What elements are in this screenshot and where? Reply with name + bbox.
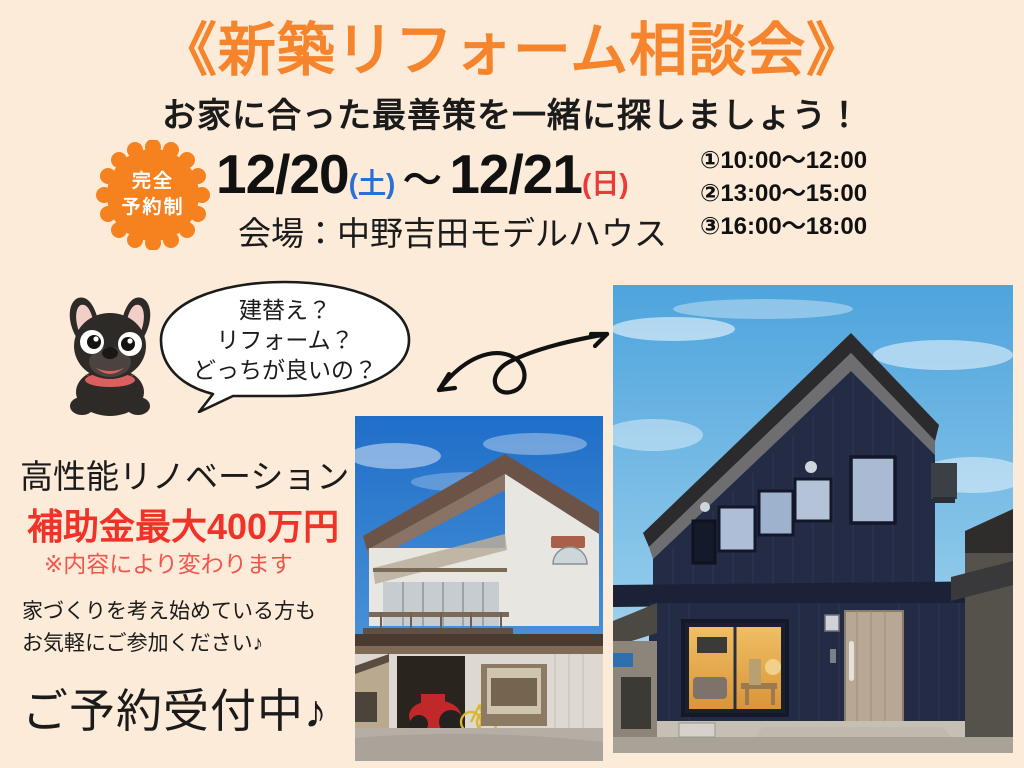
speech-bubble-text: 建替え？ リフォーム？ どっちが良いの？: [155, 296, 415, 386]
subsidy-note: ※内容により変わります: [44, 545, 293, 579]
new-house-illustration: [613, 285, 1013, 753]
venue-label: 会場：中野吉田モデルハウス: [238, 207, 667, 255]
page-subtitle: お家に合った最善策を一緒に探しましょう！: [0, 98, 1024, 135]
time-slot-1: ①10:00〜12:00: [700, 144, 867, 177]
french-bulldog-icon: [48, 288, 172, 420]
old-house-illustration: [355, 416, 603, 761]
cta-text: ご予約受付中♪: [22, 675, 328, 741]
time-slot-2: ②13:00〜15:00: [700, 177, 867, 210]
date-start: 12/20: [216, 143, 349, 205]
badge-text: 完全 予約制: [96, 140, 210, 250]
invitation-line-2: お気軽にご参加ください♪: [22, 628, 316, 660]
renovation-heading: 高性能リノベーション: [20, 450, 349, 498]
reservation-required-badge: 完全 予約制: [96, 140, 210, 250]
invitation-line-1: 家づくりを考え始めている方も: [22, 596, 316, 628]
new-house-photo: [613, 285, 1013, 753]
page-title: 《新築リフォーム相談会》: [0, 22, 1024, 80]
time-slot-list: ①10:00〜12:00 ②13:00〜15:00 ③16:00〜18:00: [700, 144, 867, 243]
date-range-mark: 〜: [395, 160, 449, 202]
old-house-photo: [355, 416, 603, 761]
speech-bubble: 建替え？ リフォーム？ どっちが良いの？: [155, 278, 415, 413]
time-slot-3: ③16:00〜18:00: [700, 210, 867, 243]
flyer-canvas: 《新築リフォーム相談会》 お家に合った最善策を一緒に探しましょう！ 完全: [0, 0, 1024, 768]
badge-line-1: 完全: [132, 169, 174, 195]
bubble-line-3: どっちが良いの？: [155, 356, 415, 386]
event-date-range: 12/20(土)〜12/21(日): [216, 142, 629, 206]
subsidy-amount: 補助金最大400万円: [27, 498, 339, 550]
date-end: 12/21: [449, 143, 582, 205]
bubble-line-1: 建替え？: [155, 296, 415, 326]
day-end: (日): [582, 168, 629, 199]
day-start: (土): [349, 168, 396, 199]
curly-arrow-icon: [425, 312, 625, 417]
bubble-line-2: リフォーム？: [155, 326, 415, 356]
badge-line-2: 予約制: [121, 195, 184, 221]
invitation-text: 家づくりを考え始めている方も お気軽にご参加ください♪: [22, 596, 316, 659]
